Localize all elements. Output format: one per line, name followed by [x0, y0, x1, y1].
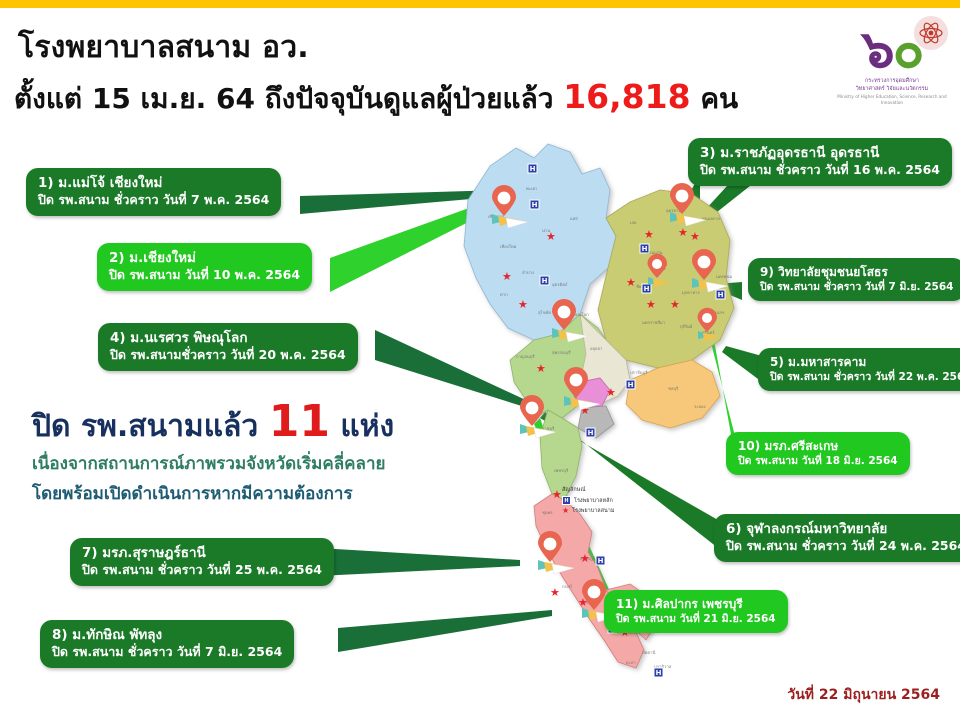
logo-thai-line2: วิทยาศาสตร์ วิจัยและนวัตกรรม [832, 86, 952, 94]
callout-2-detail: ปิด รพ.สนาม วันที่ 10 พ.ค. 2564 [109, 267, 300, 284]
logo-thai-line1: กระทรวงการอุดมศึกษา [832, 78, 952, 86]
logo-caption: กระทรวงการอุดมศึกษา วิทยาศาสตร์ วิจัยและ… [832, 78, 952, 106]
svg-text:ปัตตานี: ปัตตานี [642, 650, 655, 655]
svg-text:★: ★ [646, 298, 656, 311]
atom-icon [914, 16, 948, 50]
callout-5[interactable]: 5) ม.มหาสารคาม ปิด รพ.สนาม ชั่วคราว วันท… [758, 348, 960, 391]
map-legend: สัญลักษณ์ H โรงพยาบาลหลัก ★ โรงพยาบาลสนา… [562, 486, 614, 515]
summary-headline: ปิด รพ.สนามแล้ว 11 แห่ง [32, 398, 462, 446]
svg-text:★: ★ [644, 228, 654, 241]
callout-3[interactable]: 3) ม.ราชภัฏอุดรธานี อุดรธานี ปิด รพ.สนาม… [688, 138, 952, 186]
callout-11-detail: ปิด รพ.สนาม วันที่ 21 มิ.ย. 2564 [616, 612, 776, 626]
callout-9-title: 9) วิทยาลัยชุมชนยโสธร [760, 264, 953, 280]
svg-text:ลำปาง: ลำปาง [522, 270, 534, 275]
hospital-icon: H [562, 496, 571, 505]
callout-6-detail: ปิด รพ.สนาม ชั่วคราว วันที่ 24 พ.ค. 2564 [726, 538, 960, 555]
callout-4-detail: ปิด รพ.สนามชั่วคราว วันที่ 20 พ.ค. 2564 [110, 347, 346, 364]
map-legend-label-hospital: โรงพยาบาลหลัก [574, 497, 613, 505]
header-subtitle-post: คน [700, 82, 738, 115]
svg-text:★: ★ [502, 270, 512, 283]
logo-english: Ministry of Higher Education, Science, R… [832, 94, 952, 106]
svg-text:เชียงใหม่: เชียงใหม่ [500, 243, 517, 249]
svg-text:แพร่: แพร่ [570, 216, 578, 221]
callout-11[interactable]: 11) ม.ศิลปากร เพชรบุรี ปิด รพ.สนาม วันที… [604, 590, 788, 633]
callout-6-title: 6) จุฬาลงกรณ์มหาวิทยาลัย [726, 520, 960, 538]
callout-3-title: 3) ม.ราชภัฏอุดรธานี อุดรธานี [700, 144, 940, 162]
summary-reason: เนื่องจากสถานการณ์ภาพรวมจังหวัดเริ่มคลี่… [32, 452, 462, 478]
page-title: โรงพยาบาลสนาม อว. [18, 24, 830, 71]
callout-5-title: 5) ม.มหาสารคาม [770, 354, 960, 370]
map-legend-item-field: ★ โรงพยาบาลสนาม [562, 507, 614, 515]
svg-text:พะเยา: พะเยา [526, 186, 537, 191]
footer-date: วันที่ 22 มิถุนายน 2564 [787, 684, 940, 706]
map-legend-title: สัญลักษณ์ [562, 486, 614, 494]
svg-text:H: H [718, 291, 724, 299]
closed-count: 11 [269, 396, 330, 447]
callout-7-detail: ปิด รพ.สนาม ชั่วคราว วันที่ 25 พ.ค. 2564 [82, 562, 322, 579]
svg-text:H: H [532, 201, 538, 209]
top-accent-bar [0, 0, 960, 8]
svg-text:นครราชสีมา: นครราชสีมา [642, 320, 665, 325]
svg-text:★: ★ [580, 552, 590, 565]
svg-text:ตาก: ตาก [500, 292, 508, 297]
svg-text:ยะลา: ยะลา [626, 660, 636, 665]
callout-11-title: 11) ม.ศิลปากร เพชรบุรี [616, 596, 776, 612]
callout-10-title: 10) มรภ.ศรีสะเกษ [738, 438, 898, 454]
svg-text:ระยอง: ระยอง [694, 404, 706, 409]
header: โรงพยาบาลสนาม อว. ตั้งแต่ 15 เม.ย. 64 ถึ… [0, 10, 830, 121]
summary-block: ปิด รพ.สนามแล้ว 11 แห่ง เนื่องจากสถานการ… [32, 398, 462, 507]
callout-10-detail: ปิด รพ.สนาม วันที่ 18 มิ.ย. 2564 [738, 454, 898, 468]
map-legend-label-field: โรงพยาบาลสนาม [572, 507, 614, 515]
summary-note: โดยพร้อมเปิดดำเนินการหากมีความต้องการ [32, 482, 462, 508]
svg-text:กระบี่: กระบี่ [562, 583, 572, 589]
header-subtitle-pre: ตั้งแต่ 15 เม.ย. 64 ถึงปัจจุบันดูแลผู้ป่… [14, 82, 553, 115]
callout-3-detail: ปิด รพ.สนาม ชั่วคราว วันที่ 16 พ.ค. 2564 [700, 162, 940, 179]
svg-text:★: ★ [536, 362, 546, 375]
callout-7-title: 7) มรภ.สุราษฎร์ธานี [82, 544, 322, 562]
svg-text:H: H [530, 165, 536, 173]
svg-text:★: ★ [626, 276, 636, 289]
patient-count: 16,818 [563, 77, 690, 116]
svg-text:H: H [598, 557, 604, 565]
svg-text:★: ★ [518, 298, 528, 311]
callout-5-detail: ปิด รพ.สนาม ชั่วคราว วันที่ 22 พ.ค. 2564 [770, 370, 960, 384]
svg-text:นครพนม: นครพนม [716, 274, 733, 279]
callout-6[interactable]: 6) จุฬาลงกรณ์มหาวิทยาลัย ปิด รพ.สนาม ชั่… [714, 514, 960, 562]
callout-10[interactable]: 10) มรภ.ศรีสะเกษ ปิด รพ.สนาม วันที่ 18 ม… [726, 432, 910, 475]
callout-7[interactable]: 7) มรภ.สุราษฎร์ธานี ปิด รพ.สนาม ชั่วคราว… [70, 538, 334, 586]
header-subtitle: ตั้งแต่ 15 เม.ย. 64 ถึงปัจจุบันดูแลผู้ป่… [14, 77, 830, 121]
summary-headline-pre: ปิด รพ.สนามแล้ว [32, 409, 258, 444]
svg-text:★: ★ [546, 230, 556, 243]
logo-numeral-six: ๖ [862, 20, 893, 80]
callout-1[interactable]: 1) ม.แม่โจ้ เชียงใหม่ ปิด รพ.สนาม ชั่วคร… [26, 168, 281, 216]
callout-9[interactable]: 9) วิทยาลัยชุมชนยโสธร ปิด รพ.สนาม ชั่วคร… [748, 258, 960, 301]
svg-text:H: H [588, 429, 594, 437]
map-legend-item-hospital: H โรงพยาบาลหลัก [562, 496, 614, 505]
callout-8[interactable]: 8) ม.ทักษิณ พัทลุง ปิด รพ.สนาม ชั่วคราว … [40, 620, 294, 668]
svg-text:★: ★ [678, 226, 688, 239]
summary-headline-post: แห่ง [340, 409, 394, 444]
svg-text:H: H [642, 245, 648, 253]
svg-text:★: ★ [552, 488, 562, 501]
callout-2[interactable]: 2) ม.เชียงใหม่ ปิด รพ.สนาม วันที่ 10 พ.ค… [97, 243, 312, 291]
callout-9-detail: ปิด รพ.สนาม ชั่วคราว วันที่ 7 มิ.ย. 2564 [760, 280, 953, 294]
callout-4[interactable]: 4) ม.นเรศวร พิษณุโลก ปิด รพ.สนามชั่วคราว… [98, 323, 358, 371]
callout-4-title: 4) ม.นเรศวร พิษณุโลก [110, 329, 346, 347]
callout-1-detail: ปิด รพ.สนาม ชั่วคราว วันที่ 7 พ.ค. 2564 [38, 192, 269, 209]
svg-text:★: ★ [690, 230, 700, 243]
svg-text:H: H [628, 381, 634, 389]
callout-8-title: 8) ม.ทักษิณ พัทลุง [52, 626, 282, 644]
callout-8-detail: ปิด รพ.สนาม ชั่วคราว วันที่ 7 มิ.ย. 2564 [52, 644, 282, 661]
svg-text:★: ★ [670, 298, 680, 311]
svg-text:★: ★ [606, 386, 616, 399]
ministry-logo: ๖๐ กระทรวงการอุดมศึกษา วิทยาศาสตร์ วิจัย… [832, 12, 952, 108]
svg-text:H: H [656, 669, 662, 677]
svg-text:เลย: เลย [630, 220, 637, 225]
star-icon: ★ [562, 507, 569, 515]
callout-1-title: 1) ม.แม่โจ้ เชียงใหม่ [38, 174, 269, 192]
svg-text:★: ★ [550, 586, 560, 599]
callout-2-title: 2) ม.เชียงใหม่ [109, 249, 300, 267]
svg-text:H: H [542, 277, 548, 285]
svg-text:H: H [644, 285, 650, 293]
